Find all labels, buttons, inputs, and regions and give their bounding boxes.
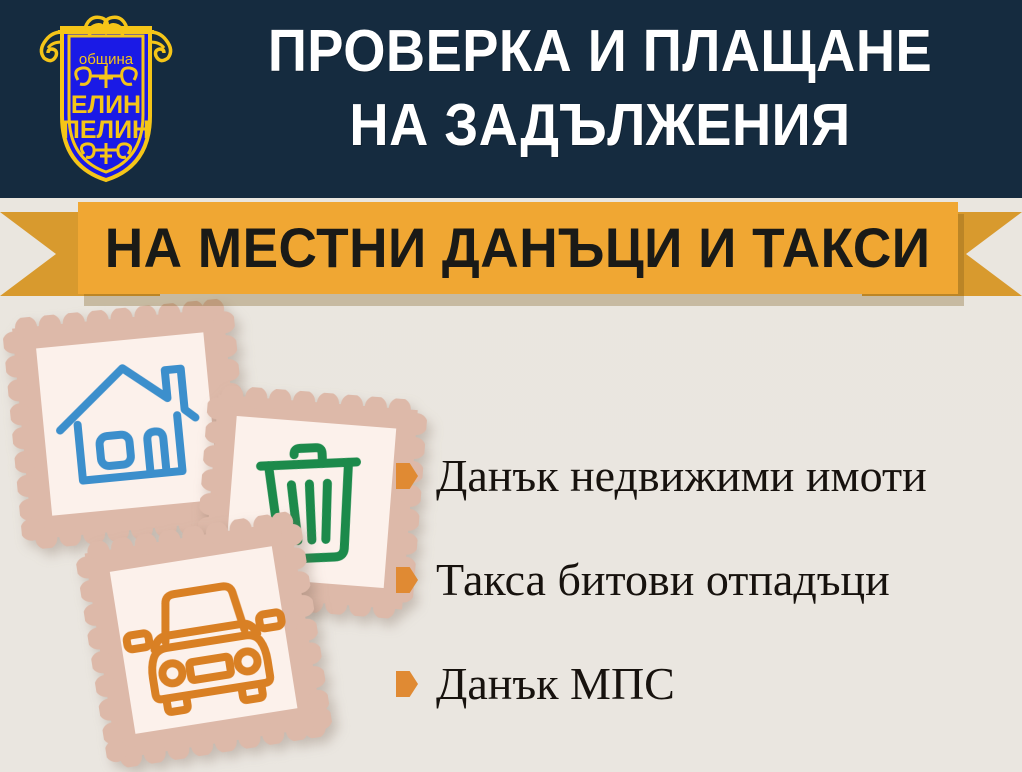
arrow-bullet-icon [396, 463, 418, 489]
list-item-label: Такса битови отпадъци [436, 554, 890, 606]
crest-name-line2: ПЕЛИН [62, 116, 150, 144]
poster-root: община ЕЛИН ПЕЛИН [0, 0, 1022, 772]
list-item[interactable]: Данък недвижими имоти [396, 424, 1016, 528]
title-line-2: НА ЗАДЪЛЖЕНИЯ [223, 88, 977, 162]
list-item-label: Данък недвижими имоти [436, 450, 927, 502]
crest-obshtina-text: община [79, 51, 134, 68]
crest-name-line1: ЕЛИН [71, 91, 141, 119]
ribbon-panel: НА МЕСТНИ ДАНЪЦИ И ТАКСИ [78, 202, 958, 294]
list-item-label: Данък МПС [436, 658, 675, 710]
ribbon-label: НА МЕСТНИ ДАНЪЦИ И ТАКСИ [105, 220, 931, 276]
page-title: ПРОВЕРКА И ПЛАЩАНЕ НА ЗАДЪЛЖЕНИЯ [190, 14, 1010, 162]
coat-of-arms-icon: община ЕЛИН ПЕЛИН [22, 6, 190, 192]
header-bar: община ЕЛИН ПЕЛИН [0, 0, 1022, 198]
arrow-bullet-icon [396, 671, 418, 697]
stamp-car [73, 510, 335, 772]
ribbon-banner: НА МЕСТНИ ДАНЪЦИ И ТАКСИ [0, 198, 1022, 310]
title-line-1: ПРОВЕРКА И ПЛАЩАНЕ [223, 14, 977, 88]
stamp-group [0, 296, 420, 772]
tax-type-list: Данък недвижими имоти Такса битови отпад… [396, 424, 1016, 736]
list-item[interactable]: Такса битови отпадъци [396, 528, 1016, 632]
list-item[interactable]: Данък МПС [396, 632, 1016, 736]
arrow-bullet-icon [396, 567, 418, 593]
